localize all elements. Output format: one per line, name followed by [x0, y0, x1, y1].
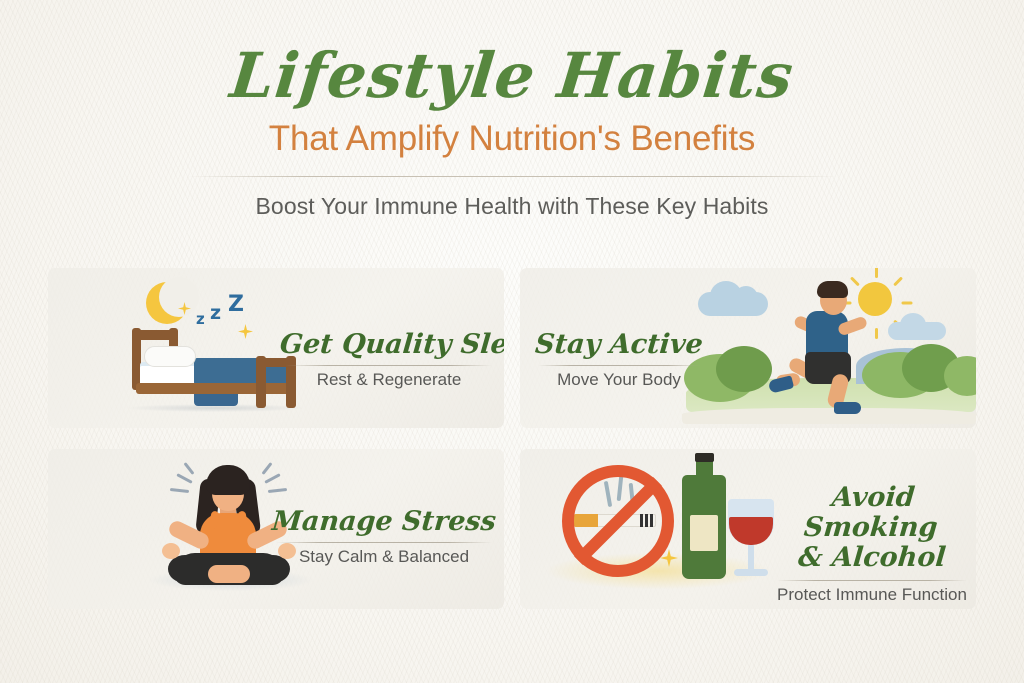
calm-ray [268, 488, 287, 493]
calm-ray [176, 473, 192, 484]
sun-ray [893, 276, 903, 286]
runner-front-shoe [834, 402, 861, 414]
cloud-icon [698, 292, 768, 316]
z-letter-large-icon: Z [228, 292, 244, 317]
wine-bottle-label [690, 515, 718, 551]
habit-title-line1: Avoid Smoking [771, 483, 972, 543]
wine-glass-stem [748, 543, 754, 571]
page-title: Lifestyle Habits [0, 44, 1024, 108]
wine-bottle-cap [695, 453, 714, 462]
habit-card-active[interactable]: Stay Active Move Your Body [520, 268, 976, 428]
cloud-icon [888, 322, 946, 340]
habit-card-sleep[interactable]: z z Z Ge [48, 268, 504, 428]
header-divider [187, 176, 837, 177]
runner-back-shoe [768, 375, 794, 393]
runner-figure [772, 278, 892, 414]
calm-ray [262, 462, 273, 475]
page-subtitle: That Amplify Nutrition's Benefits [0, 120, 1024, 158]
habit-title: Stay Active [533, 330, 706, 360]
sun-ray [902, 302, 913, 305]
sparkle-icon [238, 324, 253, 339]
calm-ray [170, 488, 189, 493]
habit-card-avoid[interactable]: Avoid Smoking & Alcohol Protect Immune F… [520, 449, 976, 609]
habit-text-active: Stay Active Move Your Body [534, 330, 704, 390]
z-letter-medium-icon: z [210, 302, 221, 324]
runner-hair [817, 281, 848, 298]
z-letter-small-icon: z [196, 310, 205, 328]
bed-headboard-rail [132, 330, 178, 340]
woman-hair-top [206, 465, 250, 495]
habit-text-avoid: Avoid Smoking & Alcohol Protect Immune F… [774, 483, 970, 605]
habit-text-sleep: Get Quality Sleep Rest & Regenerate [280, 330, 498, 390]
habit-title: Get Quality Sleep [279, 330, 500, 360]
crescent-moon-icon [146, 282, 188, 324]
bed-pillow [144, 346, 196, 367]
infographic-page: Lifestyle Habits That Amplify Nutrition'… [0, 0, 1024, 683]
wine-glass-base [734, 569, 768, 576]
habit-caption: Rest & Regenerate [280, 370, 498, 390]
wine-liquid [729, 517, 773, 545]
habit-caption: Move Your Body [534, 370, 704, 390]
woman-hand-left [162, 543, 180, 559]
title-divider [777, 580, 967, 581]
habit-title-line2: & Alcohol [773, 543, 972, 573]
sun-ray [875, 268, 878, 278]
woman-foot [208, 565, 250, 583]
habit-caption: Stay Calm & Balanced [270, 547, 498, 567]
habit-title: Manage Stress [269, 507, 500, 537]
title-divider [276, 542, 492, 543]
header: Lifestyle Habits That Amplify Nutrition'… [0, 44, 1024, 220]
habit-card-grid: z z Z Ge [48, 268, 976, 609]
habit-text-stress: Manage Stress Stay Calm & Balanced [270, 507, 498, 567]
calm-ray [264, 473, 280, 484]
title-divider [286, 365, 492, 366]
bed-frame-base [136, 383, 294, 394]
title-divider [538, 365, 700, 366]
bush-shape [716, 346, 772, 392]
habit-caption: Protect Immune Function [774, 585, 970, 605]
page-tagline: Boost Your Immune Health with These Key … [0, 193, 1024, 220]
habit-card-stress[interactable]: Manage Stress Stay Calm & Balanced [48, 449, 504, 609]
woman-knee-left [168, 555, 202, 583]
calm-ray [184, 462, 195, 475]
no-smoking-alcohol-icon [548, 457, 778, 603]
bed-moon-zzz-icon: z z Z [110, 280, 300, 415]
running-man-sun-icon [676, 268, 976, 428]
